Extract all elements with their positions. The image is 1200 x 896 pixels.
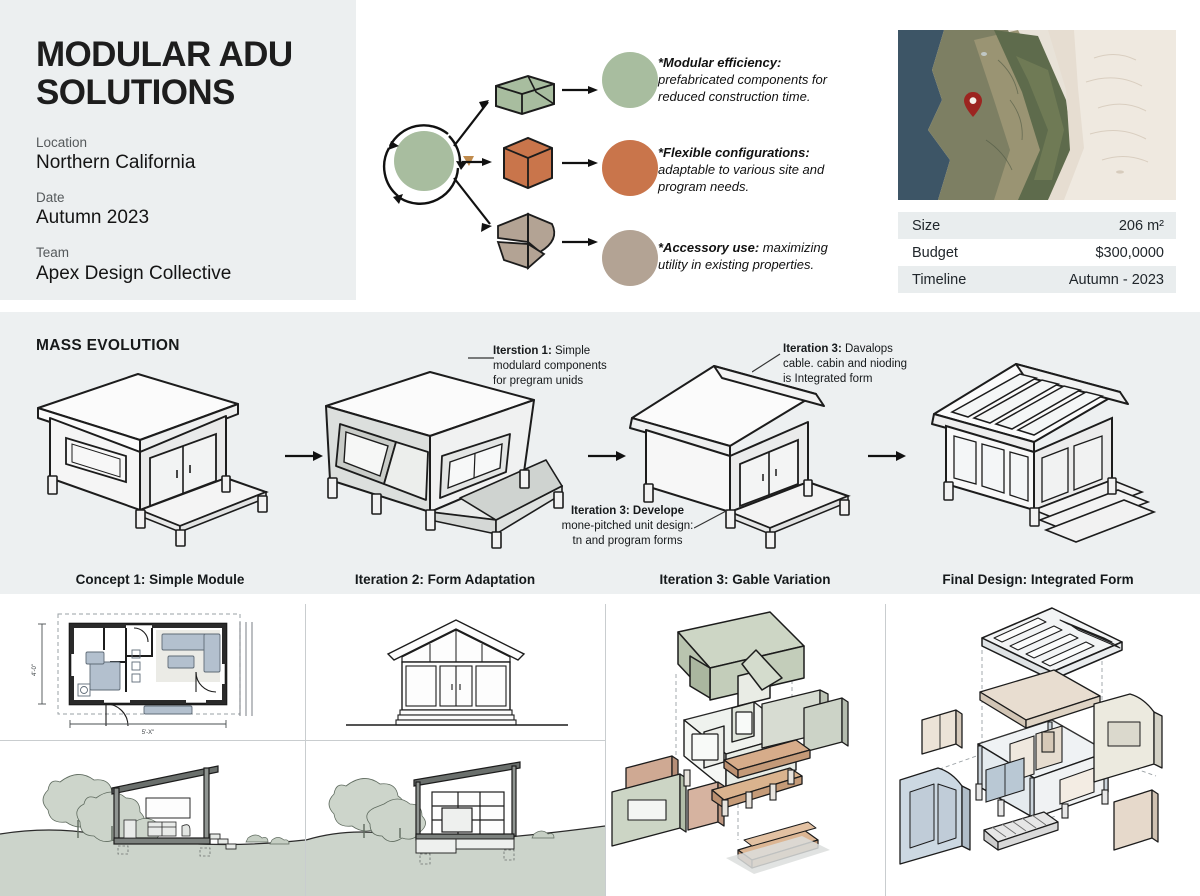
spec-key-timeline: Timeline bbox=[912, 272, 966, 288]
swatch-accessory-use bbox=[602, 230, 658, 286]
spec-row-size: Size 206 m² bbox=[898, 212, 1176, 239]
mass-annotation-1-heading: Iterstion 1: bbox=[493, 345, 552, 357]
spec-table: Size 206 m² Budget $300,0000 Timeline Au… bbox=[898, 212, 1176, 293]
concept-point-2-heading: *Accessory use: bbox=[658, 240, 759, 255]
mass-annotation-3-heading: Iteration 3: Develope bbox=[571, 505, 684, 517]
mass-stage-4-svg bbox=[900, 360, 1180, 550]
drawings-section: 4'-0" 5'-X" bbox=[0, 594, 1200, 896]
spec-row-timeline: Timeline Autumn - 2023 bbox=[898, 266, 1176, 293]
mass-annotation-2: Iteration 3: Davalops cable. cabin and n… bbox=[783, 342, 908, 387]
module-wedge-box-icon bbox=[496, 76, 554, 114]
header-band: MODULAR ADU SOLUTIONS Location Northern … bbox=[0, 0, 1200, 312]
concept-point-1: *Flexible configurations: adaptable to v… bbox=[658, 144, 858, 195]
spec-key-size: Size bbox=[912, 218, 940, 234]
mass-leader-line-1 bbox=[468, 352, 498, 364]
meta-value-location: Northern California bbox=[36, 151, 356, 175]
meta-label-date: Date bbox=[36, 189, 356, 207]
site-map bbox=[898, 30, 1176, 200]
module-cube-icon bbox=[504, 138, 552, 188]
concept-point-0: *Modular efficiency: prefabricated compo… bbox=[658, 54, 858, 105]
spec-value-budget: $300,0000 bbox=[1095, 245, 1164, 261]
section-1-svg bbox=[0, 742, 305, 896]
meta-label-location: Location bbox=[36, 134, 356, 152]
section-1-drawing bbox=[0, 742, 305, 896]
stage-arrow-2 bbox=[588, 448, 628, 464]
concept-diagram-svg bbox=[376, 28, 666, 294]
mass-annotation-3-body: mone-pitched unit design: tn and program… bbox=[562, 520, 694, 547]
meta-value-team: Apex Design Collective bbox=[36, 262, 356, 286]
mass-annotation-3: Iteration 3: Develope mone-pitched unit … bbox=[560, 504, 695, 549]
mass-leader-line-2 bbox=[752, 352, 784, 374]
spec-value-timeline: Autumn - 2023 bbox=[1069, 272, 1164, 288]
spec-row-budget: Budget $300,0000 bbox=[898, 239, 1176, 266]
swatch-modular-efficiency bbox=[602, 52, 658, 108]
project-meta-group: Location Northern California Date Autumn… bbox=[36, 134, 356, 286]
mass-stage-4 bbox=[900, 360, 1180, 550]
floor-plan-svg: 4'-0" 5'-X" bbox=[0, 600, 305, 740]
plan-dimension-width: 5'-X" bbox=[142, 730, 155, 736]
map-pin-icon bbox=[964, 92, 982, 117]
concept-diagram: *Modular efficiency: prefabricated compo… bbox=[376, 28, 876, 294]
concept-point-1-heading: *Flexible configurations: bbox=[658, 145, 810, 160]
site-map-svg bbox=[898, 30, 1176, 200]
mass-stage-1-svg bbox=[20, 360, 300, 550]
mass-annotation-1: Iterstion 1: Simple modulard components … bbox=[493, 344, 623, 389]
meta-value-date: Autumn 2023 bbox=[36, 206, 356, 230]
section-2-drawing bbox=[306, 742, 605, 896]
page-title: MODULAR ADU SOLUTIONS bbox=[36, 36, 356, 112]
spec-key-budget: Budget bbox=[912, 245, 958, 261]
concept-point-1-body: adaptable to various site and program ne… bbox=[658, 162, 824, 194]
meta-label-team: Team bbox=[36, 244, 356, 262]
meta-item-date: Date Autumn 2023 bbox=[36, 189, 356, 230]
section-2-svg bbox=[306, 742, 605, 896]
axonometric-2-svg bbox=[886, 594, 1200, 896]
plan-dimension-height: 4'-0" bbox=[32, 664, 38, 676]
mass-evolution-heading: MASS EVOLUTION bbox=[36, 337, 180, 355]
swatch-flexible-configurations bbox=[602, 140, 658, 196]
grid-divider-h1 bbox=[0, 740, 605, 741]
floor-plan-drawing: 4'-0" 5'-X" bbox=[0, 600, 305, 740]
concept-point-0-body: prefabricated components for reduced con… bbox=[658, 72, 827, 104]
elevation-svg bbox=[306, 600, 605, 740]
axonometric-1-drawing bbox=[606, 594, 885, 896]
stage-caption-1: Concept 1: Simple Module bbox=[15, 572, 305, 587]
mass-evolution-section: MASS EVOLUTION bbox=[0, 312, 1200, 594]
elevation-drawing bbox=[306, 600, 605, 740]
stage-caption-4: Final Design: Integrated Form bbox=[893, 572, 1183, 587]
stage-arrow-3 bbox=[868, 448, 908, 464]
stage-arrow-1 bbox=[285, 448, 325, 464]
meta-item-team: Team Apex Design Collective bbox=[36, 244, 356, 285]
concept-point-0-heading: *Modular efficiency: bbox=[658, 55, 781, 70]
mass-stage-1 bbox=[20, 360, 300, 550]
concept-point-2: *Accessory use: maximizing utility in ex… bbox=[658, 239, 858, 273]
axonometric-2-drawing bbox=[886, 594, 1200, 896]
tree-cluster-icon-2 bbox=[329, 778, 426, 841]
stage-caption-2: Iteration 2: Form Adaptation bbox=[300, 572, 590, 587]
mass-annotation-2-heading: Iteration 3: bbox=[783, 343, 842, 355]
stage-caption-3: Iteration 3: Gable Variation bbox=[600, 572, 890, 587]
axonometric-1-svg bbox=[606, 594, 885, 896]
meta-item-location: Location Northern California bbox=[36, 134, 356, 175]
title-block: MODULAR ADU SOLUTIONS Location Northern … bbox=[0, 0, 356, 300]
spec-value-size: 206 m² bbox=[1119, 218, 1164, 234]
mass-leader-line-3 bbox=[694, 508, 734, 532]
module-folded-plane-icon bbox=[498, 214, 554, 268]
